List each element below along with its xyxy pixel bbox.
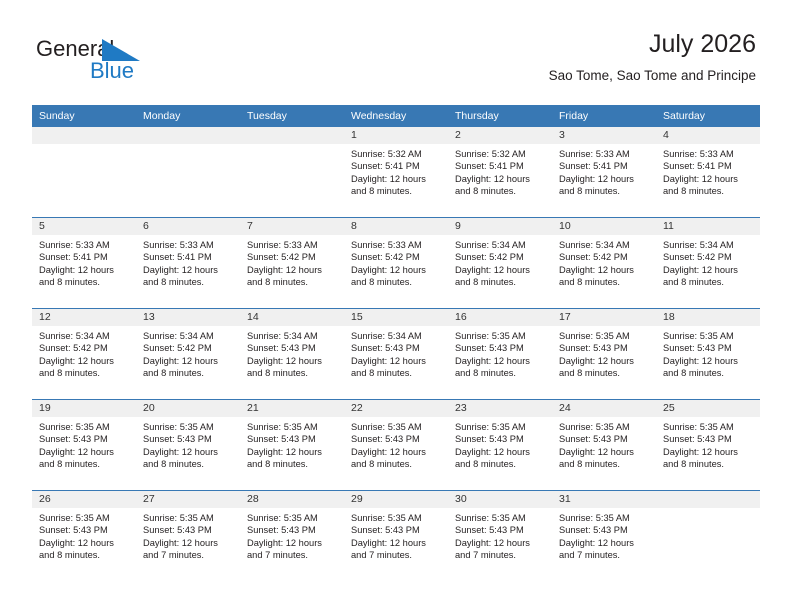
daylight-text-line1: Daylight: 12 hours xyxy=(143,355,235,367)
page-subtitle: Sao Tome, Sao Tome and Principe xyxy=(549,67,756,84)
calendar-day[interactable]: 20Sunrise: 5:35 AMSunset: 5:43 PMDayligh… xyxy=(136,400,240,490)
sunrise-text: Sunrise: 5:34 AM xyxy=(351,330,443,342)
daylight-text-line2: and 8 minutes. xyxy=(143,276,235,288)
sunrise-text: Sunrise: 5:35 AM xyxy=(455,330,547,342)
daylight-text-line2: and 7 minutes. xyxy=(247,549,339,561)
weekday-header-wednesday: Wednesday xyxy=(344,105,448,127)
calendar-cell: 30Sunrise: 5:35 AMSunset: 5:43 PMDayligh… xyxy=(448,491,552,582)
sunset-text: Sunset: 5:43 PM xyxy=(247,342,339,354)
calendar-cell: 21Sunrise: 5:35 AMSunset: 5:43 PMDayligh… xyxy=(240,400,344,491)
day-details: Sunrise: 5:35 AMSunset: 5:43 PMDaylight:… xyxy=(448,326,552,379)
day-details: Sunrise: 5:35 AMSunset: 5:43 PMDaylight:… xyxy=(240,508,344,561)
day-details: Sunrise: 5:35 AMSunset: 5:43 PMDaylight:… xyxy=(552,417,656,470)
day-details: Sunrise: 5:35 AMSunset: 5:43 PMDaylight:… xyxy=(240,417,344,470)
daylight-text-line2: and 8 minutes. xyxy=(351,276,443,288)
sunset-text: Sunset: 5:42 PM xyxy=(455,251,547,263)
sunrise-text: Sunrise: 5:35 AM xyxy=(663,330,755,342)
daylight-text-line2: and 8 minutes. xyxy=(663,458,755,470)
day-details: Sunrise: 5:35 AMSunset: 5:43 PMDaylight:… xyxy=(552,326,656,379)
daylight-text-line1: Daylight: 12 hours xyxy=(559,537,651,549)
day-details: Sunrise: 5:35 AMSunset: 5:43 PMDaylight:… xyxy=(448,508,552,561)
daylight-text-line1: Daylight: 12 hours xyxy=(143,446,235,458)
daylight-text-line1: Daylight: 12 hours xyxy=(143,537,235,549)
daylight-text-line2: and 8 minutes. xyxy=(247,458,339,470)
calendar-week-row: 12Sunrise: 5:34 AMSunset: 5:42 PMDayligh… xyxy=(32,309,760,400)
sunrise-text: Sunrise: 5:34 AM xyxy=(455,239,547,251)
sunset-text: Sunset: 5:43 PM xyxy=(559,342,651,354)
day-number: 23 xyxy=(448,400,552,417)
calendar-day[interactable]: 16Sunrise: 5:35 AMSunset: 5:43 PMDayligh… xyxy=(448,309,552,399)
daylight-text-line1: Daylight: 12 hours xyxy=(39,355,131,367)
daylight-text-line1: Daylight: 12 hours xyxy=(351,537,443,549)
calendar-cell: 17Sunrise: 5:35 AMSunset: 5:43 PMDayligh… xyxy=(552,309,656,400)
daylight-text-line1: Daylight: 12 hours xyxy=(39,264,131,276)
day-number: 25 xyxy=(656,400,760,417)
sunrise-text: Sunrise: 5:33 AM xyxy=(351,239,443,251)
calendar-day-empty xyxy=(656,491,760,581)
calendar-day[interactable]: 10Sunrise: 5:34 AMSunset: 5:42 PMDayligh… xyxy=(552,218,656,308)
daylight-text-line1: Daylight: 12 hours xyxy=(351,264,443,276)
daylight-text-line1: Daylight: 12 hours xyxy=(455,446,547,458)
sunrise-text: Sunrise: 5:35 AM xyxy=(351,421,443,433)
sunrise-text: Sunrise: 5:34 AM xyxy=(559,239,651,251)
sunset-text: Sunset: 5:43 PM xyxy=(663,342,755,354)
calendar-day[interactable]: 18Sunrise: 5:35 AMSunset: 5:43 PMDayligh… xyxy=(656,309,760,399)
day-details: Sunrise: 5:35 AMSunset: 5:43 PMDaylight:… xyxy=(344,417,448,470)
day-number: 5 xyxy=(32,218,136,235)
calendar-day[interactable]: 11Sunrise: 5:34 AMSunset: 5:42 PMDayligh… xyxy=(656,218,760,308)
daylight-text-line2: and 8 minutes. xyxy=(143,367,235,379)
daylight-text-line1: Daylight: 12 hours xyxy=(559,264,651,276)
day-details: Sunrise: 5:34 AMSunset: 5:42 PMDaylight:… xyxy=(136,326,240,379)
calendar-cell: 10Sunrise: 5:34 AMSunset: 5:42 PMDayligh… xyxy=(552,218,656,309)
sunrise-text: Sunrise: 5:35 AM xyxy=(663,421,755,433)
calendar-cell: 8Sunrise: 5:33 AMSunset: 5:42 PMDaylight… xyxy=(344,218,448,309)
day-number xyxy=(32,127,136,144)
calendar-day[interactable]: 1Sunrise: 5:32 AMSunset: 5:41 PMDaylight… xyxy=(344,127,448,217)
calendar-day[interactable]: 13Sunrise: 5:34 AMSunset: 5:42 PMDayligh… xyxy=(136,309,240,399)
day-details: Sunrise: 5:35 AMSunset: 5:43 PMDaylight:… xyxy=(32,417,136,470)
calendar-day[interactable]: 15Sunrise: 5:34 AMSunset: 5:43 PMDayligh… xyxy=(344,309,448,399)
calendar-cell: 19Sunrise: 5:35 AMSunset: 5:43 PMDayligh… xyxy=(32,400,136,491)
sunrise-text: Sunrise: 5:35 AM xyxy=(39,421,131,433)
daylight-text-line1: Daylight: 12 hours xyxy=(247,264,339,276)
day-details: Sunrise: 5:33 AMSunset: 5:41 PMDaylight:… xyxy=(552,144,656,197)
day-details: Sunrise: 5:35 AMSunset: 5:43 PMDaylight:… xyxy=(32,508,136,561)
sunset-text: Sunset: 5:43 PM xyxy=(663,433,755,445)
calendar-day[interactable]: 14Sunrise: 5:34 AMSunset: 5:43 PMDayligh… xyxy=(240,309,344,399)
sunrise-text: Sunrise: 5:32 AM xyxy=(351,148,443,160)
calendar-cell: 6Sunrise: 5:33 AMSunset: 5:41 PMDaylight… xyxy=(136,218,240,309)
sunset-text: Sunset: 5:41 PM xyxy=(351,160,443,172)
sunrise-text: Sunrise: 5:34 AM xyxy=(39,330,131,342)
sunrise-text: Sunrise: 5:35 AM xyxy=(143,512,235,524)
calendar-day[interactable]: 22Sunrise: 5:35 AMSunset: 5:43 PMDayligh… xyxy=(344,400,448,490)
day-number: 6 xyxy=(136,218,240,235)
calendar-cell: 5Sunrise: 5:33 AMSunset: 5:41 PMDaylight… xyxy=(32,218,136,309)
weekday-header-sunday: Sunday xyxy=(32,105,136,127)
calendar-day[interactable]: 2Sunrise: 5:32 AMSunset: 5:41 PMDaylight… xyxy=(448,127,552,217)
calendar-cell: 22Sunrise: 5:35 AMSunset: 5:43 PMDayligh… xyxy=(344,400,448,491)
calendar-cell: 27Sunrise: 5:35 AMSunset: 5:43 PMDayligh… xyxy=(136,491,240,582)
day-details: Sunrise: 5:34 AMSunset: 5:43 PMDaylight:… xyxy=(344,326,448,379)
sunrise-text: Sunrise: 5:33 AM xyxy=(39,239,131,251)
daylight-text-line1: Daylight: 12 hours xyxy=(351,446,443,458)
sunrise-text: Sunrise: 5:35 AM xyxy=(455,421,547,433)
calendar-cell: 18Sunrise: 5:35 AMSunset: 5:43 PMDayligh… xyxy=(656,309,760,400)
sunrise-text: Sunrise: 5:34 AM xyxy=(143,330,235,342)
weekday-header-friday: Friday xyxy=(552,105,656,127)
calendar-day[interactable]: 5Sunrise: 5:33 AMSunset: 5:41 PMDaylight… xyxy=(32,218,136,308)
calendar-cell: 13Sunrise: 5:34 AMSunset: 5:42 PMDayligh… xyxy=(136,309,240,400)
daylight-text-line1: Daylight: 12 hours xyxy=(455,355,547,367)
calendar-week-row: 26Sunrise: 5:35 AMSunset: 5:43 PMDayligh… xyxy=(32,491,760,582)
sunset-text: Sunset: 5:41 PM xyxy=(559,160,651,172)
calendar-cell: 1Sunrise: 5:32 AMSunset: 5:41 PMDaylight… xyxy=(344,127,448,218)
calendar-header-row: Sunday Monday Tuesday Wednesday Thursday… xyxy=(32,105,760,127)
calendar-day-empty xyxy=(136,127,240,217)
calendar-body: 1Sunrise: 5:32 AMSunset: 5:41 PMDaylight… xyxy=(32,127,760,581)
calendar-cell xyxy=(240,127,344,218)
calendar-day[interactable]: 19Sunrise: 5:35 AMSunset: 5:43 PMDayligh… xyxy=(32,400,136,490)
calendar-cell: 31Sunrise: 5:35 AMSunset: 5:43 PMDayligh… xyxy=(552,491,656,582)
sunset-text: Sunset: 5:41 PM xyxy=(143,251,235,263)
calendar-cell xyxy=(656,491,760,582)
sunset-text: Sunset: 5:43 PM xyxy=(455,342,547,354)
daylight-text-line2: and 8 minutes. xyxy=(455,185,547,197)
calendar-cell: 12Sunrise: 5:34 AMSunset: 5:42 PMDayligh… xyxy=(32,309,136,400)
day-number: 16 xyxy=(448,309,552,326)
sunrise-text: Sunrise: 5:35 AM xyxy=(455,512,547,524)
day-number: 3 xyxy=(552,127,656,144)
daylight-text-line2: and 8 minutes. xyxy=(663,367,755,379)
sunrise-text: Sunrise: 5:35 AM xyxy=(247,421,339,433)
title-block: July 2026 Sao Tome, Sao Tome and Princip… xyxy=(549,28,756,84)
sunrise-text: Sunrise: 5:35 AM xyxy=(559,421,651,433)
calendar-cell xyxy=(32,127,136,218)
sunrise-text: Sunrise: 5:35 AM xyxy=(143,421,235,433)
calendar-cell: 9Sunrise: 5:34 AMSunset: 5:42 PMDaylight… xyxy=(448,218,552,309)
daylight-text-line1: Daylight: 12 hours xyxy=(559,355,651,367)
daylight-text-line2: and 8 minutes. xyxy=(351,458,443,470)
day-details: Sunrise: 5:35 AMSunset: 5:43 PMDaylight:… xyxy=(136,508,240,561)
day-details: Sunrise: 5:33 AMSunset: 5:42 PMDaylight:… xyxy=(240,235,344,288)
day-number: 1 xyxy=(344,127,448,144)
sunset-text: Sunset: 5:43 PM xyxy=(247,524,339,536)
calendar-day[interactable]: 7Sunrise: 5:33 AMSunset: 5:42 PMDaylight… xyxy=(240,218,344,308)
day-number: 17 xyxy=(552,309,656,326)
calendar-cell: 25Sunrise: 5:35 AMSunset: 5:43 PMDayligh… xyxy=(656,400,760,491)
daylight-text-line2: and 8 minutes. xyxy=(559,185,651,197)
day-number: 24 xyxy=(552,400,656,417)
sunrise-text: Sunrise: 5:33 AM xyxy=(663,148,755,160)
daylight-text-line2: and 8 minutes. xyxy=(559,458,651,470)
day-number: 18 xyxy=(656,309,760,326)
daylight-text-line2: and 8 minutes. xyxy=(663,276,755,288)
day-number: 9 xyxy=(448,218,552,235)
sunset-text: Sunset: 5:42 PM xyxy=(143,342,235,354)
day-number: 22 xyxy=(344,400,448,417)
calendar-day[interactable]: 6Sunrise: 5:33 AMSunset: 5:41 PMDaylight… xyxy=(136,218,240,308)
sunset-text: Sunset: 5:43 PM xyxy=(351,433,443,445)
daylight-text-line2: and 8 minutes. xyxy=(351,185,443,197)
calendar-cell: 20Sunrise: 5:35 AMSunset: 5:43 PMDayligh… xyxy=(136,400,240,491)
calendar-day[interactable]: 27Sunrise: 5:35 AMSunset: 5:43 PMDayligh… xyxy=(136,491,240,581)
daylight-text-line2: and 8 minutes. xyxy=(663,185,755,197)
calendar-cell: 16Sunrise: 5:35 AMSunset: 5:43 PMDayligh… xyxy=(448,309,552,400)
sunrise-text: Sunrise: 5:34 AM xyxy=(247,330,339,342)
daylight-text-line2: and 8 minutes. xyxy=(455,276,547,288)
day-number xyxy=(240,127,344,144)
daylight-text-line2: and 7 minutes. xyxy=(351,549,443,561)
sunset-text: Sunset: 5:43 PM xyxy=(247,433,339,445)
calendar-day[interactable]: 9Sunrise: 5:34 AMSunset: 5:42 PMDaylight… xyxy=(448,218,552,308)
daylight-text-line2: and 8 minutes. xyxy=(455,458,547,470)
calendar-cell: 23Sunrise: 5:35 AMSunset: 5:43 PMDayligh… xyxy=(448,400,552,491)
sunset-text: Sunset: 5:41 PM xyxy=(455,160,547,172)
sunrise-text: Sunrise: 5:32 AM xyxy=(455,148,547,160)
daylight-text-line2: and 8 minutes. xyxy=(143,458,235,470)
daylight-text-line1: Daylight: 12 hours xyxy=(351,355,443,367)
calendar-cell: 2Sunrise: 5:32 AMSunset: 5:41 PMDaylight… xyxy=(448,127,552,218)
day-number: 19 xyxy=(32,400,136,417)
day-number: 15 xyxy=(344,309,448,326)
logo-text-blue: Blue xyxy=(90,58,134,84)
sunset-text: Sunset: 5:42 PM xyxy=(663,251,755,263)
daylight-text-line1: Daylight: 12 hours xyxy=(351,173,443,185)
calendar-day-empty xyxy=(240,127,344,217)
daylight-text-line2: and 8 minutes. xyxy=(247,276,339,288)
daylight-text-line2: and 8 minutes. xyxy=(351,367,443,379)
daylight-text-line2: and 8 minutes. xyxy=(247,367,339,379)
day-number: 31 xyxy=(552,491,656,508)
day-details: Sunrise: 5:33 AMSunset: 5:41 PMDaylight:… xyxy=(656,144,760,197)
daylight-text-line1: Daylight: 12 hours xyxy=(455,173,547,185)
day-number: 20 xyxy=(136,400,240,417)
calendar-day[interactable]: 4Sunrise: 5:33 AMSunset: 5:41 PMDaylight… xyxy=(656,127,760,217)
calendar-cell: 24Sunrise: 5:35 AMSunset: 5:43 PMDayligh… xyxy=(552,400,656,491)
sunrise-text: Sunrise: 5:33 AM xyxy=(143,239,235,251)
day-number: 14 xyxy=(240,309,344,326)
calendar-day[interactable]: 25Sunrise: 5:35 AMSunset: 5:43 PMDayligh… xyxy=(656,400,760,490)
daylight-text-line2: and 8 minutes. xyxy=(39,458,131,470)
page-title: July 2026 xyxy=(549,28,756,60)
calendar-day[interactable]: 26Sunrise: 5:35 AMSunset: 5:43 PMDayligh… xyxy=(32,491,136,581)
sunset-text: Sunset: 5:42 PM xyxy=(39,342,131,354)
calendar-week-row: 1Sunrise: 5:32 AMSunset: 5:41 PMDaylight… xyxy=(32,127,760,218)
calendar-cell xyxy=(136,127,240,218)
day-number: 4 xyxy=(656,127,760,144)
calendar-day[interactable]: 29Sunrise: 5:35 AMSunset: 5:43 PMDayligh… xyxy=(344,491,448,581)
calendar-cell: 11Sunrise: 5:34 AMSunset: 5:42 PMDayligh… xyxy=(656,218,760,309)
sunset-text: Sunset: 5:42 PM xyxy=(559,251,651,263)
day-details: Sunrise: 5:35 AMSunset: 5:43 PMDaylight:… xyxy=(552,508,656,561)
day-details: Sunrise: 5:35 AMSunset: 5:43 PMDaylight:… xyxy=(448,417,552,470)
calendar-week-row: 19Sunrise: 5:35 AMSunset: 5:43 PMDayligh… xyxy=(32,400,760,491)
daylight-text-line1: Daylight: 12 hours xyxy=(663,355,755,367)
day-number: 2 xyxy=(448,127,552,144)
sunset-text: Sunset: 5:41 PM xyxy=(39,251,131,263)
sunset-text: Sunset: 5:43 PM xyxy=(39,524,131,536)
sunrise-text: Sunrise: 5:33 AM xyxy=(559,148,651,160)
day-details: Sunrise: 5:34 AMSunset: 5:42 PMDaylight:… xyxy=(448,235,552,288)
daylight-text-line1: Daylight: 12 hours xyxy=(455,264,547,276)
weekday-header-tuesday: Tuesday xyxy=(240,105,344,127)
daylight-text-line1: Daylight: 12 hours xyxy=(39,446,131,458)
sunrise-text: Sunrise: 5:35 AM xyxy=(559,330,651,342)
calendar-day[interactable]: 3Sunrise: 5:33 AMSunset: 5:41 PMDaylight… xyxy=(552,127,656,217)
day-details: Sunrise: 5:34 AMSunset: 5:42 PMDaylight:… xyxy=(552,235,656,288)
day-details: Sunrise: 5:35 AMSunset: 5:43 PMDaylight:… xyxy=(344,508,448,561)
calendar-day[interactable]: 21Sunrise: 5:35 AMSunset: 5:43 PMDayligh… xyxy=(240,400,344,490)
sunset-text: Sunset: 5:43 PM xyxy=(455,524,547,536)
day-details: Sunrise: 5:34 AMSunset: 5:42 PMDaylight:… xyxy=(32,326,136,379)
daylight-text-line2: and 7 minutes. xyxy=(455,549,547,561)
calendar-day[interactable]: 8Sunrise: 5:33 AMSunset: 5:42 PMDaylight… xyxy=(344,218,448,308)
sunset-text: Sunset: 5:43 PM xyxy=(559,433,651,445)
day-details: Sunrise: 5:35 AMSunset: 5:43 PMDaylight:… xyxy=(136,417,240,470)
daylight-text-line2: and 8 minutes. xyxy=(39,549,131,561)
calendar-table: Sunday Monday Tuesday Wednesday Thursday… xyxy=(32,105,760,581)
calendar-cell: 7Sunrise: 5:33 AMSunset: 5:42 PMDaylight… xyxy=(240,218,344,309)
calendar-day-empty xyxy=(32,127,136,217)
day-number: 11 xyxy=(656,218,760,235)
day-number: 13 xyxy=(136,309,240,326)
calendar-day[interactable]: 28Sunrise: 5:35 AMSunset: 5:43 PMDayligh… xyxy=(240,491,344,581)
day-number: 8 xyxy=(344,218,448,235)
calendar-page: General Blue July 2026 Sao Tome, Sao Tom… xyxy=(0,0,792,612)
calendar-day[interactable]: 12Sunrise: 5:34 AMSunset: 5:42 PMDayligh… xyxy=(32,309,136,399)
day-number: 10 xyxy=(552,218,656,235)
calendar-cell: 3Sunrise: 5:33 AMSunset: 5:41 PMDaylight… xyxy=(552,127,656,218)
daylight-text-line1: Daylight: 12 hours xyxy=(663,446,755,458)
day-number: 12 xyxy=(32,309,136,326)
sunrise-text: Sunrise: 5:33 AM xyxy=(247,239,339,251)
calendar-day[interactable]: 17Sunrise: 5:35 AMSunset: 5:43 PMDayligh… xyxy=(552,309,656,399)
page-header: General Blue July 2026 Sao Tome, Sao Tom… xyxy=(36,28,756,100)
day-number: 26 xyxy=(32,491,136,508)
day-details: Sunrise: 5:33 AMSunset: 5:41 PMDaylight:… xyxy=(32,235,136,288)
sunrise-text: Sunrise: 5:34 AM xyxy=(663,239,755,251)
sunset-text: Sunset: 5:43 PM xyxy=(559,524,651,536)
day-number: 21 xyxy=(240,400,344,417)
day-details: Sunrise: 5:35 AMSunset: 5:43 PMDaylight:… xyxy=(656,326,760,379)
calendar-cell: 14Sunrise: 5:34 AMSunset: 5:43 PMDayligh… xyxy=(240,309,344,400)
daylight-text-line1: Daylight: 12 hours xyxy=(663,173,755,185)
sunset-text: Sunset: 5:43 PM xyxy=(143,433,235,445)
weekday-header-thursday: Thursday xyxy=(448,105,552,127)
calendar-cell: 15Sunrise: 5:34 AMSunset: 5:43 PMDayligh… xyxy=(344,309,448,400)
weekday-header-saturday: Saturday xyxy=(656,105,760,127)
sunset-text: Sunset: 5:41 PM xyxy=(663,160,755,172)
day-details: Sunrise: 5:34 AMSunset: 5:42 PMDaylight:… xyxy=(656,235,760,288)
daylight-text-line1: Daylight: 12 hours xyxy=(247,446,339,458)
calendar-week-row: 5Sunrise: 5:33 AMSunset: 5:41 PMDaylight… xyxy=(32,218,760,309)
day-details: Sunrise: 5:35 AMSunset: 5:43 PMDaylight:… xyxy=(656,417,760,470)
day-details: Sunrise: 5:33 AMSunset: 5:42 PMDaylight:… xyxy=(344,235,448,288)
calendar-cell: 29Sunrise: 5:35 AMSunset: 5:43 PMDayligh… xyxy=(344,491,448,582)
sunrise-text: Sunrise: 5:35 AM xyxy=(559,512,651,524)
calendar-day[interactable]: 30Sunrise: 5:35 AMSunset: 5:43 PMDayligh… xyxy=(448,491,552,581)
daylight-text-line2: and 8 minutes. xyxy=(39,367,131,379)
sunrise-text: Sunrise: 5:35 AM xyxy=(247,512,339,524)
day-number xyxy=(136,127,240,144)
daylight-text-line2: and 7 minutes. xyxy=(559,549,651,561)
sunset-text: Sunset: 5:42 PM xyxy=(351,251,443,263)
daylight-text-line2: and 8 minutes. xyxy=(559,367,651,379)
daylight-text-line1: Daylight: 12 hours xyxy=(663,264,755,276)
daylight-text-line2: and 8 minutes. xyxy=(39,276,131,288)
daylight-text-line2: and 8 minutes. xyxy=(559,276,651,288)
calendar-cell: 28Sunrise: 5:35 AMSunset: 5:43 PMDayligh… xyxy=(240,491,344,582)
daylight-text-line1: Daylight: 12 hours xyxy=(247,537,339,549)
daylight-text-line1: Daylight: 12 hours xyxy=(39,537,131,549)
sunrise-text: Sunrise: 5:35 AM xyxy=(351,512,443,524)
weekday-header-monday: Monday xyxy=(136,105,240,127)
sunset-text: Sunset: 5:42 PM xyxy=(247,251,339,263)
general-blue-logo[interactable]: General Blue xyxy=(36,36,276,92)
day-number: 27 xyxy=(136,491,240,508)
daylight-text-line2: and 8 minutes. xyxy=(455,367,547,379)
daylight-text-line2: and 7 minutes. xyxy=(143,549,235,561)
day-number: 28 xyxy=(240,491,344,508)
day-details: Sunrise: 5:33 AMSunset: 5:41 PMDaylight:… xyxy=(136,235,240,288)
daylight-text-line1: Daylight: 12 hours xyxy=(247,355,339,367)
sunset-text: Sunset: 5:43 PM xyxy=(143,524,235,536)
sunset-text: Sunset: 5:43 PM xyxy=(351,342,443,354)
calendar-day[interactable]: 31Sunrise: 5:35 AMSunset: 5:43 PMDayligh… xyxy=(552,491,656,581)
day-details: Sunrise: 5:34 AMSunset: 5:43 PMDaylight:… xyxy=(240,326,344,379)
calendar-day[interactable]: 24Sunrise: 5:35 AMSunset: 5:43 PMDayligh… xyxy=(552,400,656,490)
day-number: 30 xyxy=(448,491,552,508)
calendar-cell: 4Sunrise: 5:33 AMSunset: 5:41 PMDaylight… xyxy=(656,127,760,218)
daylight-text-line1: Daylight: 12 hours xyxy=(559,446,651,458)
calendar-cell: 26Sunrise: 5:35 AMSunset: 5:43 PMDayligh… xyxy=(32,491,136,582)
day-details: Sunrise: 5:32 AMSunset: 5:41 PMDaylight:… xyxy=(448,144,552,197)
sunrise-text: Sunrise: 5:35 AM xyxy=(39,512,131,524)
sunset-text: Sunset: 5:43 PM xyxy=(455,433,547,445)
day-details: Sunrise: 5:32 AMSunset: 5:41 PMDaylight:… xyxy=(344,144,448,197)
daylight-text-line1: Daylight: 12 hours xyxy=(559,173,651,185)
day-number: 7 xyxy=(240,218,344,235)
day-number: 29 xyxy=(344,491,448,508)
daylight-text-line1: Daylight: 12 hours xyxy=(455,537,547,549)
daylight-text-line1: Daylight: 12 hours xyxy=(143,264,235,276)
sunset-text: Sunset: 5:43 PM xyxy=(351,524,443,536)
calendar-day[interactable]: 23Sunrise: 5:35 AMSunset: 5:43 PMDayligh… xyxy=(448,400,552,490)
day-number xyxy=(656,491,760,508)
sunset-text: Sunset: 5:43 PM xyxy=(39,433,131,445)
